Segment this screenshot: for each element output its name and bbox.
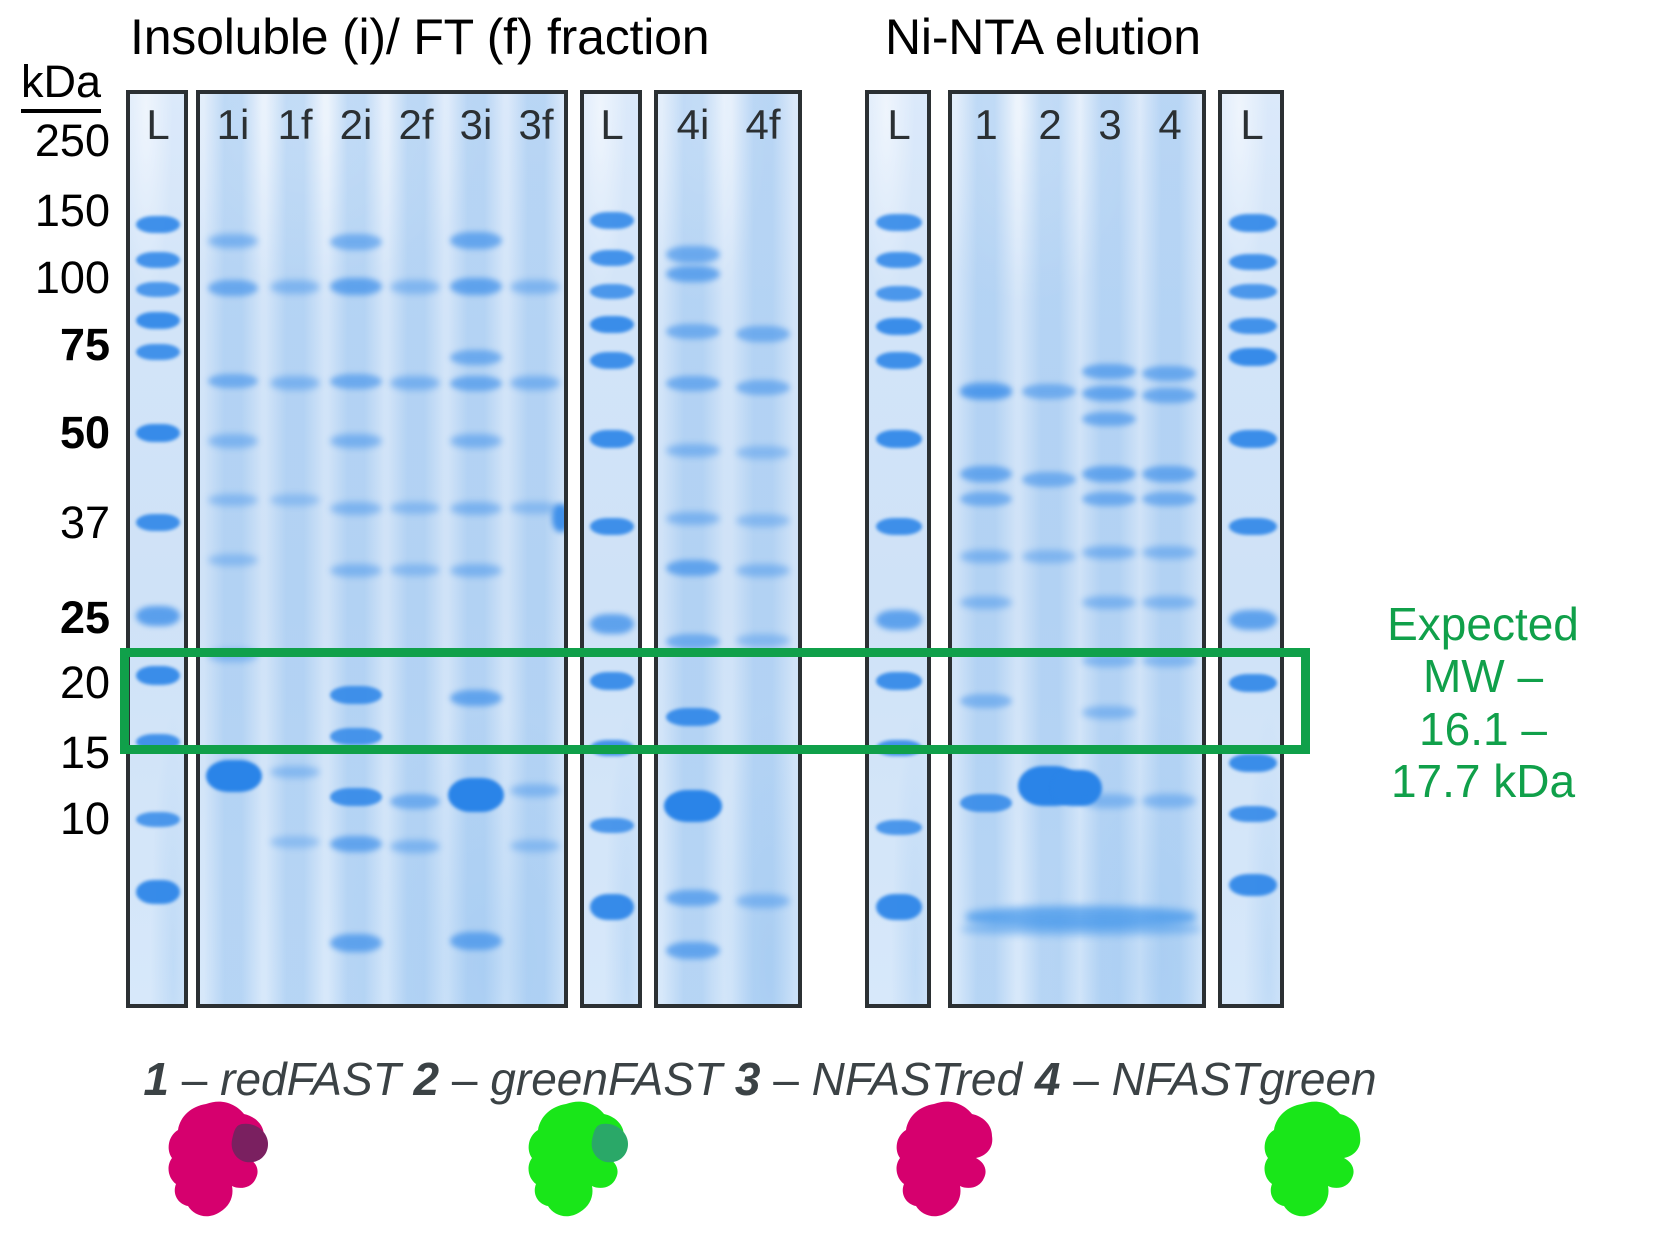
sample-band	[208, 554, 258, 566]
sample-band	[1082, 654, 1136, 667]
lane-streak-1f	[266, 94, 324, 1004]
sample-band	[736, 894, 790, 908]
lane-label-2: 2	[1020, 104, 1080, 146]
sample-band	[1082, 364, 1136, 379]
sample-band	[390, 502, 440, 514]
protein-blob-nfastred-icon	[888, 1098, 1008, 1228]
sample-band	[1082, 412, 1136, 426]
mw-tick-150: 150	[0, 188, 110, 233]
ladder-band-150	[136, 252, 180, 268]
sample-band	[666, 376, 720, 391]
sample-band	[450, 350, 502, 365]
ladder-band-15	[876, 820, 922, 835]
ladder-band-37	[876, 518, 922, 535]
gel-smear	[962, 922, 1200, 936]
ladder-band-20	[1229, 754, 1277, 772]
target-band-2f	[390, 794, 440, 809]
lane-streak-3f	[508, 94, 564, 1004]
ladder-band-30	[1229, 610, 1277, 630]
sample-band	[270, 376, 320, 390]
sample-band	[450, 502, 502, 515]
sample-band	[510, 840, 560, 852]
ladder-band-125	[590, 284, 634, 299]
gel-panel-samples-3: 1 2 3 4	[948, 90, 1206, 1008]
lane-label-3i: 3i	[448, 104, 504, 146]
sample-band	[666, 512, 720, 525]
sample-band	[450, 278, 502, 295]
ladder-band-37	[136, 514, 180, 531]
ladder-band-10	[876, 894, 922, 920]
ladder-band-75	[136, 344, 180, 360]
sample-band	[552, 504, 568, 532]
caption-num-4: 4	[1035, 1053, 1061, 1105]
sample-band	[960, 694, 1012, 708]
sample-band	[736, 326, 790, 342]
ladder-band-50	[136, 424, 180, 442]
sample-band	[208, 494, 258, 506]
lane-label-2f: 2f	[388, 104, 444, 146]
lane-label-3f: 3f	[508, 104, 564, 146]
sample-band	[1142, 596, 1196, 609]
sample-band	[666, 708, 720, 726]
target-band-1	[960, 794, 1012, 812]
ladder-band-250	[136, 216, 180, 233]
ladder-band-50	[1229, 430, 1277, 448]
mw-tick-250: 250	[0, 118, 110, 163]
ladder-band-15	[590, 818, 634, 833]
lane-streak-2f	[388, 94, 444, 1004]
sample-band	[960, 596, 1012, 609]
ladder-band-125	[876, 286, 922, 301]
sample-band	[270, 836, 320, 848]
mw-tick-50: 50	[0, 410, 110, 455]
sample-band	[1022, 472, 1076, 487]
sample-band	[510, 280, 560, 294]
mw-tick-20: 20	[0, 660, 110, 705]
sample-band	[270, 494, 320, 506]
mw-tick-10: 10	[0, 796, 110, 841]
lane-label-4f: 4f	[732, 104, 794, 146]
sample-band	[270, 280, 320, 294]
sample-band	[510, 376, 560, 390]
ladder-band-100	[136, 312, 180, 329]
axis-unit-label: kDa	[6, 56, 116, 113]
gel-panel-ladder-1: L	[126, 90, 188, 1008]
sample-band	[330, 564, 382, 577]
sample-band	[1142, 654, 1196, 667]
sample-band	[666, 634, 720, 649]
sample-band	[450, 932, 502, 950]
lane-label-1: 1	[956, 104, 1016, 146]
sample-band	[1142, 546, 1196, 559]
lane-streak-1	[956, 94, 1016, 1004]
sample-band	[736, 564, 790, 577]
sample-band	[666, 246, 720, 263]
ladder-band-250	[590, 212, 634, 229]
sample-band	[330, 502, 382, 515]
sample-band	[450, 376, 502, 391]
mw-tick-75: 75	[0, 322, 110, 367]
section-title-ninta: Ni-NTA elution	[885, 8, 1201, 66]
ladder-band-37	[590, 518, 634, 535]
gel-panel-ladder-3: L	[865, 90, 931, 1008]
lane-label-2i: 2i	[328, 104, 384, 146]
protein-blob-redfast-icon	[160, 1098, 280, 1228]
ladder-band-20	[590, 740, 634, 756]
lane-label-3: 3	[1080, 104, 1140, 146]
ladder-band-15	[1229, 806, 1277, 822]
ladder-band-100	[876, 318, 922, 335]
mw-tick-100: 100	[0, 255, 110, 300]
lane-label-L: L	[1222, 104, 1282, 146]
sample-band	[1082, 492, 1136, 506]
ladder-band-150	[876, 252, 922, 268]
sample-band	[330, 728, 382, 745]
sample-band	[666, 324, 720, 339]
sample-band	[1082, 546, 1136, 559]
sample-band	[666, 444, 720, 457]
sample-band	[666, 266, 720, 282]
sample-band	[1082, 596, 1136, 609]
sample-band	[450, 690, 502, 706]
sample-band	[960, 386, 1012, 400]
ladder-band-250	[876, 214, 922, 231]
ladder-band-75	[876, 352, 922, 369]
target-band-4	[1142, 794, 1196, 808]
sample-band	[330, 934, 382, 952]
ladder-band-30	[136, 606, 180, 626]
sample-band	[208, 434, 258, 448]
sample-band	[390, 376, 440, 390]
sample-band	[330, 234, 382, 250]
lane-label-L: L	[584, 104, 640, 146]
lane-streak-2	[1020, 94, 1080, 1004]
ladder-band-150	[590, 250, 634, 266]
lane-streak-3i	[448, 94, 504, 1004]
lane-label-1f: 1f	[266, 104, 324, 146]
target-band-1f	[270, 766, 320, 778]
gel-panel-samples-1: 1i 1f 2i 2f 3i 3f	[196, 90, 568, 1008]
lane-label-4: 4	[1140, 104, 1200, 146]
protein-blob-greenfast-icon	[520, 1098, 640, 1228]
sample-band	[1022, 384, 1076, 399]
sample-band	[390, 280, 440, 294]
sample-band	[390, 564, 440, 576]
ladder-band-15	[136, 812, 180, 827]
ladder-band-37	[1229, 518, 1277, 535]
ladder-band-50	[876, 430, 922, 448]
mw-tick-37: 37	[0, 500, 110, 545]
caption-dash-4: –	[1060, 1053, 1111, 1105]
sample-band	[330, 374, 382, 389]
caption-dash-2: –	[439, 1053, 490, 1105]
sample-band	[1082, 466, 1136, 482]
ladder-band-50	[590, 430, 634, 448]
sample-band	[1082, 386, 1136, 401]
section-title-insoluble: Insoluble (i)/ FT (f) fraction	[130, 8, 709, 66]
expected-mw-note: Expected MW – 16.1 – 17.7 kDa	[1318, 598, 1648, 808]
ladder-band-20	[136, 734, 180, 750]
ladder-band-25	[1229, 674, 1277, 692]
sample-band	[330, 278, 382, 295]
panel-sheen	[584, 94, 638, 1004]
ladder-band-75	[590, 352, 634, 369]
lane-label-L: L	[130, 104, 186, 146]
ladder-band-10	[590, 894, 634, 920]
ladder-band-20	[876, 740, 922, 756]
lane-streak-1i	[204, 94, 262, 1004]
ladder-band-100	[1229, 318, 1277, 334]
sample-band	[450, 232, 502, 249]
sample-band	[330, 836, 382, 852]
lane-streak-4f	[732, 94, 794, 1004]
gel-panel-ladder-4: L	[1218, 90, 1284, 1008]
sample-band	[960, 492, 1012, 506]
ladder-band-10	[136, 880, 180, 904]
ladder-band-250	[1229, 214, 1277, 232]
target-band-2i	[330, 788, 382, 806]
ladder-band-30	[876, 610, 922, 630]
caption-num-3: 3	[735, 1053, 761, 1105]
sample-band	[1022, 550, 1076, 563]
lane-streak-2i	[328, 94, 384, 1004]
lane-streak-4i	[662, 94, 724, 1004]
ladder-band-30	[590, 614, 634, 634]
target-band-3f	[510, 784, 560, 797]
ladder-band-100	[590, 316, 634, 333]
sample-band	[1082, 706, 1136, 719]
figure-root: Insoluble (i)/ FT (f) fraction Ni-NTA el…	[0, 0, 1653, 1250]
sample-band	[736, 634, 790, 647]
sample-band	[330, 686, 382, 704]
ladder-band-125	[136, 282, 180, 297]
lane-label-L: L	[869, 104, 929, 146]
lane-label-1i: 1i	[204, 104, 262, 146]
sample-band	[1142, 388, 1196, 403]
sample-band	[960, 466, 1012, 482]
sample-band	[208, 649, 258, 662]
mw-tick-25: 25	[0, 595, 110, 640]
lane-label-4i: 4i	[662, 104, 724, 146]
sample-band	[330, 434, 382, 448]
ladder-band-10	[1229, 874, 1277, 896]
sample-band	[666, 560, 720, 576]
ladder-band-25	[876, 672, 922, 690]
caption-num-2: 2	[414, 1053, 440, 1105]
sample-band	[736, 380, 790, 395]
gel-panel-ladder-2: L	[580, 90, 642, 1008]
ladder-band-25	[136, 666, 180, 685]
ladder-band-25	[590, 672, 634, 690]
target-band-1i	[206, 760, 262, 792]
sample-band	[666, 890, 720, 906]
sample-band	[208, 374, 258, 388]
mw-tick-15: 15	[0, 730, 110, 775]
ladder-band-75	[1229, 348, 1277, 366]
sample-band	[736, 514, 790, 527]
sample-band	[1142, 492, 1196, 506]
sample-band	[666, 942, 720, 959]
sample-band	[450, 564, 502, 577]
ladder-band-125	[1229, 284, 1277, 299]
target-band-4i	[664, 790, 722, 822]
sample-band	[208, 280, 258, 296]
target-band-3	[1082, 794, 1136, 808]
sample-band	[736, 446, 790, 459]
ladder-band-150	[1229, 254, 1277, 270]
protein-blob-nfastgreen-icon	[1256, 1098, 1376, 1228]
target-band-3i	[448, 778, 504, 812]
gel-panel-samples-2: 4i 4f	[654, 90, 802, 1008]
caption-dash-3: –	[760, 1053, 811, 1105]
sample-band	[390, 840, 440, 853]
sample-band	[450, 434, 502, 448]
sample-band	[960, 550, 1012, 563]
sample-band	[208, 234, 258, 248]
sample-band	[1142, 366, 1196, 381]
sample-band	[1142, 466, 1196, 482]
